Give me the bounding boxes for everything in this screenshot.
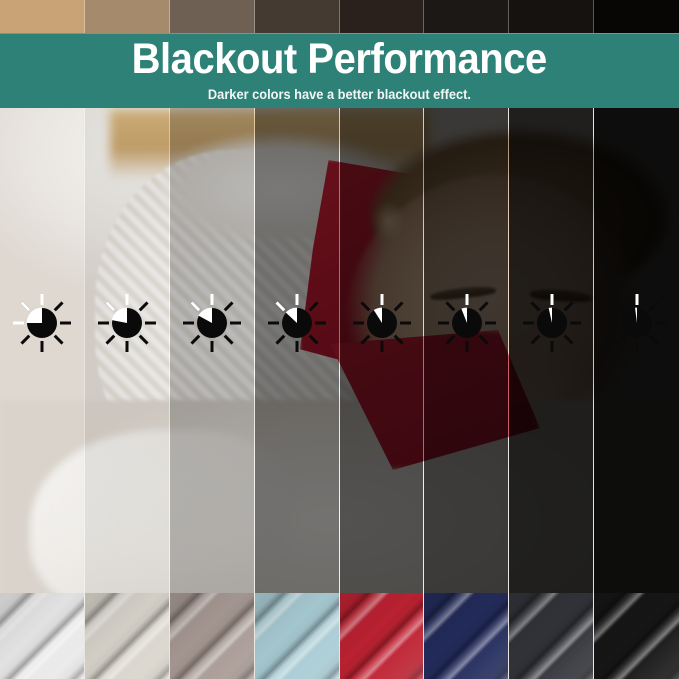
brightness-cell-taupe [170,283,255,363]
brightness-cell-white [0,283,85,363]
top-color-strip [0,0,679,33]
top-swatch-taupe [170,0,255,33]
sun-icon-navy [432,288,502,358]
sun-icon-taupe [177,288,247,358]
fabric-swatch-navy [424,593,509,679]
sun-icon-cream [92,288,162,358]
fabric-swatch-black [594,593,679,679]
fabric-swatch-taupe [170,593,255,679]
swatch-gradient [255,593,340,679]
fabric-swatch-dark-gray [509,593,594,679]
page-title: Blackout Performance [132,38,547,81]
fabric-swatch-light-blue [255,593,340,679]
brightness-indicator-row [0,283,679,363]
sun-icon-red [347,288,417,358]
fabric-swatch-cream [85,593,170,679]
blackout-performance-infographic: Blackout Performance Darker colors have … [0,0,679,679]
brightness-cell-cream [85,283,170,363]
fabric-swatch-white [0,593,85,679]
brightness-cell-navy [424,283,509,363]
swatch-gradient [594,593,679,679]
top-swatch-dark-gray [509,0,594,33]
brightness-cell-red [340,283,425,363]
swatch-gradient [170,593,255,679]
swatch-gradient [424,593,509,679]
brightness-cell-black [594,283,679,363]
top-swatch-cream [85,0,170,33]
sun-icon-light-blue [262,288,332,358]
fabric-swatch-strip [0,593,679,679]
top-swatch-black [594,0,679,33]
swatch-gradient [0,593,85,679]
swatch-gradient [340,593,425,679]
banner: Blackout Performance Darker colors have … [0,33,679,108]
top-swatch-white [0,0,85,33]
brightness-cell-dark-gray [509,283,594,363]
sun-icon-white [7,288,77,358]
top-swatch-navy [424,0,509,33]
swatch-gradient [509,593,594,679]
top-swatch-red [340,0,425,33]
brightness-cell-light-blue [255,283,340,363]
swatch-gradient [85,593,170,679]
sun-icon-black [602,288,672,358]
top-swatch-light-blue [255,0,340,33]
sun-icon-dark-gray [517,288,587,358]
page-subtitle: Darker colors have a better blackout eff… [208,88,471,102]
fabric-swatch-red [340,593,425,679]
